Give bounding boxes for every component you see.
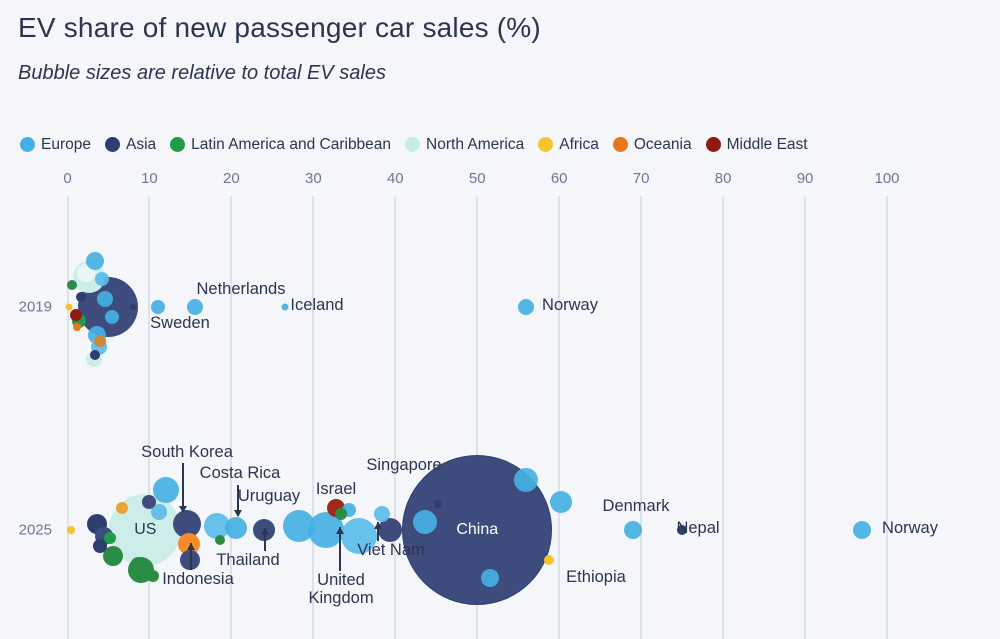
legend-swatch-icon <box>170 137 185 152</box>
legend-item-latin-america-and-caribbean[interactable]: Latin America and Caribbean <box>170 137 391 153</box>
annotation-label-thailand: Thailand <box>216 551 279 570</box>
annotation-label-norway-2019: Norway <box>542 296 598 315</box>
annotation-label-israel: Israel <box>316 480 356 499</box>
bubble[interactable] <box>514 468 538 492</box>
annotation-label-singapore: Singapore <box>366 456 441 475</box>
legend-item-north-america[interactable]: North America <box>405 137 524 153</box>
x-axis-tick-label: 80 <box>715 170 732 187</box>
bubble[interactable] <box>76 292 86 302</box>
bubble[interactable] <box>335 508 347 520</box>
bubble-netherlands[interactable] <box>187 299 203 315</box>
gridline <box>640 196 642 639</box>
legend-item-oceania[interactable]: Oceania <box>613 137 692 153</box>
legend-item-africa[interactable]: Africa <box>538 137 599 153</box>
bubble[interactable] <box>147 570 159 582</box>
annotation-label-iceland: Iceland <box>290 296 343 315</box>
bubble[interactable] <box>67 280 77 290</box>
bubble[interactable] <box>116 502 128 514</box>
x-axis-tick-label: 50 <box>469 170 486 187</box>
legend-item-europe[interactable]: Europe <box>20 137 91 153</box>
legend-item-asia[interactable]: Asia <box>105 137 156 153</box>
gridline <box>558 196 560 639</box>
arrow-head-icon-united-kingdom <box>336 527 344 534</box>
arrow-head-icon-costa-rica <box>234 510 242 517</box>
legend-swatch-icon <box>105 137 120 152</box>
bubble[interactable] <box>67 526 75 534</box>
annotation-label-norway-2025: Norway <box>882 519 938 538</box>
bubble[interactable] <box>550 491 572 513</box>
annotation-label-costa-rica: Costa Rica <box>200 464 281 483</box>
gridline <box>804 196 806 639</box>
x-axis-tick-label: 70 <box>633 170 650 187</box>
bubble[interactable] <box>70 309 82 321</box>
legend-item-label: Asia <box>126 137 156 153</box>
bubble[interactable] <box>131 557 145 571</box>
x-axis-tick-label: 20 <box>223 170 240 187</box>
chart-subtitle: Bubble sizes are relative to total EV sa… <box>18 62 386 85</box>
x-axis-tick-label: 40 <box>387 170 404 187</box>
bubble[interactable] <box>73 323 81 331</box>
annotation-label-sweden: Sweden <box>150 314 210 333</box>
gridline <box>394 196 396 639</box>
leader-line-south-korea <box>182 463 184 512</box>
legend-swatch-icon <box>613 137 628 152</box>
bubble[interactable] <box>90 350 100 360</box>
row-label-2019: 2019 <box>19 299 52 316</box>
x-axis-tick-label: 90 <box>797 170 814 187</box>
x-axis-tick-label: 0 <box>63 170 71 187</box>
legend-item-label: Africa <box>559 137 599 153</box>
arrow-head-icon-indonesia <box>187 543 195 550</box>
bubble[interactable] <box>142 495 156 509</box>
annotation-label-viet-nam: Viet Nam <box>357 541 425 560</box>
legend-swatch-icon <box>20 137 35 152</box>
bubble[interactable] <box>66 304 73 311</box>
legend-swatch-icon <box>405 137 420 152</box>
x-axis-tick-label: 10 <box>141 170 158 187</box>
row-label-2025: 2025 <box>19 522 52 539</box>
annotation-label-south-korea: South Korea <box>141 443 233 462</box>
bubble[interactable] <box>481 569 499 587</box>
legend-item-label: North America <box>426 137 524 153</box>
bubble-singapore[interactable] <box>434 500 442 508</box>
gridline <box>67 196 69 639</box>
arrow-head-icon-south-korea <box>179 506 187 513</box>
x-axis-tick-label: 60 <box>551 170 568 187</box>
bubble[interactable] <box>95 272 109 286</box>
arrow-head-icon-thailand <box>261 528 269 535</box>
legend-item-label: Oceania <box>634 137 692 153</box>
bubble-norway[interactable] <box>518 299 534 315</box>
gridline <box>722 196 724 639</box>
bubble[interactable] <box>130 304 136 310</box>
bubble-denmark[interactable] <box>624 521 642 539</box>
bubble[interactable] <box>413 510 437 534</box>
gridline <box>886 196 888 639</box>
bubble[interactable] <box>105 310 119 324</box>
annotation-label-indonesia: Indonesia <box>162 570 234 589</box>
bubble[interactable] <box>104 532 116 544</box>
x-axis-tick-label: 30 <box>305 170 322 187</box>
bubble[interactable] <box>97 291 113 307</box>
legend-swatch-icon <box>538 137 553 152</box>
page-title: EV share of new passenger car sales (%) <box>18 12 541 44</box>
legend-item-middle-east[interactable]: Middle East <box>706 137 808 153</box>
bubble[interactable] <box>225 517 247 539</box>
arrow-head-icon-viet-nam <box>374 522 382 529</box>
bubble-iceland[interactable] <box>281 304 288 311</box>
legend-item-label: Middle East <box>727 137 808 153</box>
bubble-sweden[interactable] <box>151 300 165 314</box>
plot-area: 010203040506070809010020192025USChinaNet… <box>0 170 1000 639</box>
bubble[interactable] <box>153 477 179 503</box>
gridline <box>312 196 314 639</box>
annotation-label-netherlands: Netherlands <box>197 280 286 299</box>
legend-item-label: Latin America and Caribbean <box>191 137 391 153</box>
bubble[interactable] <box>94 335 106 347</box>
bubble-costa-rica[interactable] <box>215 535 225 545</box>
bubble-uruguay[interactable] <box>283 510 315 542</box>
annotation-label-uruguay: Uruguay <box>238 487 300 506</box>
chart-legend: EuropeAsiaLatin America and CaribbeanNor… <box>20 137 808 153</box>
x-axis-tick-label: 100 <box>874 170 899 187</box>
annotation-label-united: United <box>317 571 365 590</box>
annotation-label-nepal: Nepal <box>676 519 719 538</box>
annotation-label-ethiopia: Ethiopia <box>566 568 626 587</box>
bubble[interactable] <box>374 506 390 522</box>
bubble-ethiopia[interactable] <box>544 555 554 565</box>
legend-item-label: Europe <box>41 137 91 153</box>
annotation-label-denmark: Denmark <box>603 497 670 516</box>
bubble-norway[interactable] <box>853 521 871 539</box>
legend-swatch-icon <box>706 137 721 152</box>
annotation-label-kingdom: Kingdom <box>308 589 373 608</box>
bubble-chart: EV share of new passenger car sales (%) … <box>0 0 1000 639</box>
bubble[interactable] <box>86 252 104 270</box>
